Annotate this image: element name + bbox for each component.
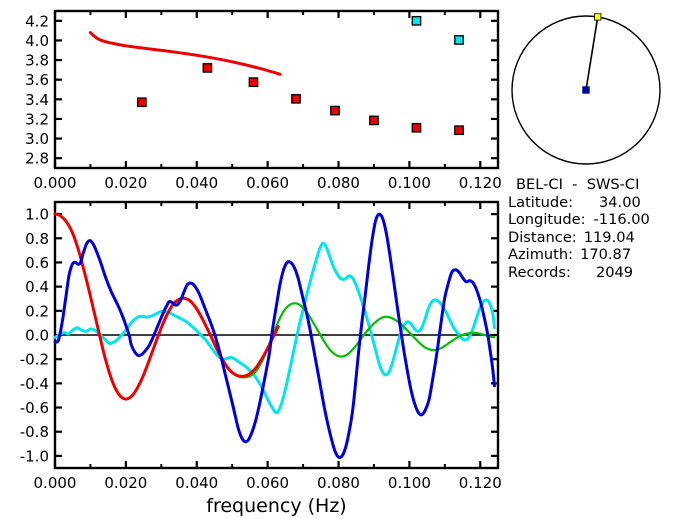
dispersion-marker-group: [412, 17, 463, 45]
dispersion-reference-curve: [90, 33, 280, 75]
x-tick-label: 0.080: [317, 174, 360, 192]
y-tick-label: -0.4: [20, 375, 49, 393]
y-tick-label: 0.2: [25, 302, 49, 320]
dispersion-point-marker: [455, 126, 463, 134]
records-row: Records:2049: [508, 264, 687, 282]
y-tick-label: 0.8: [25, 230, 49, 248]
azimuth-path-line: [586, 17, 598, 90]
y-tick-label: -1.0: [20, 447, 49, 465]
dispersion-plot: 0.0000.0200.0400.0600.0800.1000.1202.83.…: [25, 11, 502, 192]
info-panel: BEL-CI - SWS-CI Latitude:34.00 Longitude…: [508, 176, 687, 286]
x-tick-label: 0.120: [459, 474, 502, 492]
x-tick-label: 0.000: [34, 474, 77, 492]
dispersion-point-marker: [412, 17, 420, 25]
longitude-value: -116.00: [586, 211, 650, 228]
y-tick-label: 3.0: [25, 130, 49, 148]
dispersion-point-marker: [138, 98, 146, 106]
x-tick-label: 0.020: [104, 474, 147, 492]
y-tick-label: 4.2: [25, 12, 49, 30]
y-tick-label: 3.6: [25, 71, 49, 89]
dispersion-marker-group: [138, 64, 464, 135]
azimuth-label: Azimuth:: [508, 246, 573, 263]
x-tick-label: 0.120: [459, 174, 502, 192]
dispersion-point-marker: [203, 64, 211, 72]
latitude-label: Latitude:: [508, 194, 573, 211]
y-tick-label: 3.2: [25, 110, 49, 128]
y-tick-label: 0.6: [25, 254, 49, 272]
records-label: Records:: [508, 264, 571, 281]
station-pair-label: BEL-CI - SWS-CI: [508, 176, 687, 194]
latitude-value: 34.00: [573, 194, 641, 211]
y-tick-label: 3.4: [25, 91, 49, 109]
y-tick-label: 2.8: [25, 150, 49, 168]
records-value: 2049: [571, 264, 633, 281]
latitude-row: Latitude:34.00: [508, 194, 687, 212]
x-tick-label: 0.080: [317, 474, 360, 492]
dispersion-plot-frame: [55, 11, 498, 168]
x-tick-label: 0.060: [246, 474, 289, 492]
azimuth-diagram: [512, 14, 660, 164]
dispersion-point-marker: [292, 95, 300, 103]
y-tick-label: 0.0: [25, 327, 49, 345]
y-tick-label: -0.8: [20, 423, 49, 441]
y-tick-label: 1.0: [25, 206, 49, 224]
figure-root: 0.0000.0200.0400.0600.0800.1000.1202.83.…: [0, 0, 687, 519]
dispersion-point-marker: [412, 124, 420, 132]
dispersion-point-marker: [370, 116, 378, 124]
longitude-label: Longitude:: [508, 211, 586, 228]
x-tick-label: 0.100: [388, 174, 431, 192]
y-tick-label: -0.2: [20, 351, 49, 369]
longitude-row: Longitude:-116.00: [508, 211, 687, 229]
x-tick-label: 0.000: [34, 174, 77, 192]
azimuth-row: Azimuth:170.87: [508, 246, 687, 264]
x-tick-label: 0.020: [104, 174, 147, 192]
x-tick-label: 0.100: [388, 474, 431, 492]
y-tick-label: 0.4: [25, 278, 49, 296]
azimuth-value: 170.87: [573, 246, 631, 263]
x-tick-label: 0.040: [175, 174, 218, 192]
distance-value: 119.04: [577, 229, 635, 246]
distance-row: Distance:119.04: [508, 229, 687, 247]
y-tick-label: -0.6: [20, 399, 49, 417]
station-marker-dot: [583, 87, 589, 93]
event-marker-dot: [595, 14, 601, 20]
dispersion-point-marker: [455, 36, 463, 44]
x-tick-label: 0.060: [246, 174, 289, 192]
x-tick-label: 0.040: [175, 474, 218, 492]
y-tick-label: 3.8: [25, 52, 49, 70]
dispersion-point-marker: [249, 78, 257, 86]
dispersion-point-marker: [331, 106, 339, 114]
spectra-plot: 0.0000.0200.0400.0600.0800.1000.120-1.0-…: [20, 202, 502, 492]
y-tick-label: 4.0: [25, 32, 49, 50]
distance-label: Distance:: [508, 229, 577, 246]
x-axis-title: frequency (Hz): [206, 495, 346, 517]
